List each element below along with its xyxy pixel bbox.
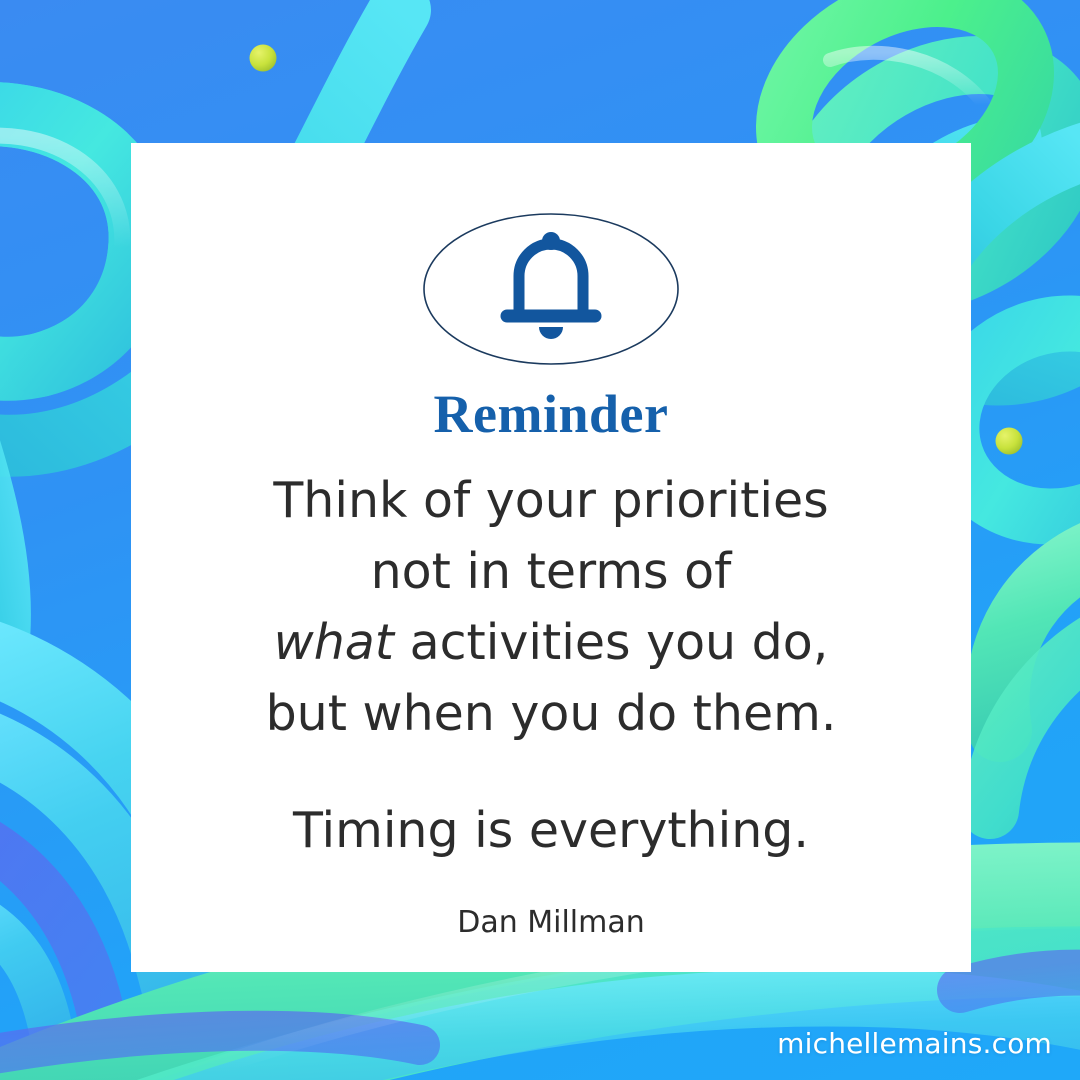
quote-text: Think of your priorities not in terms of… xyxy=(131,465,971,866)
quote-line-1: Think of your priorities xyxy=(131,465,971,536)
quote-line-3-rest: activities you do, xyxy=(394,614,828,671)
quote-line-3: what activities you do, xyxy=(131,607,971,678)
bell-icon xyxy=(507,244,595,316)
quote-card: Reminder Think of your priorities not in… xyxy=(131,143,971,972)
reminder-badge xyxy=(422,212,680,366)
quote-emphasis: what xyxy=(274,614,394,671)
quote-closing-line: Timing is everything. xyxy=(131,795,971,866)
quote-line-4: but when you do them. xyxy=(131,678,971,749)
bell-knob xyxy=(542,232,560,250)
quote-spacer xyxy=(131,749,971,795)
decor-sphere-top xyxy=(250,45,277,72)
shape-right-tubes xyxy=(990,540,1080,810)
page-title: Reminder xyxy=(131,386,971,443)
decor-sphere-right xyxy=(996,428,1023,455)
bell-clapper xyxy=(539,327,563,339)
poster-canvas: Reminder Think of your priorities not in… xyxy=(0,0,1080,1080)
quote-line-2: not in terms of xyxy=(131,536,971,607)
quote-attribution: Dan Millman xyxy=(131,905,971,940)
website-url[interactable]: michellemains.com xyxy=(777,1027,1052,1060)
